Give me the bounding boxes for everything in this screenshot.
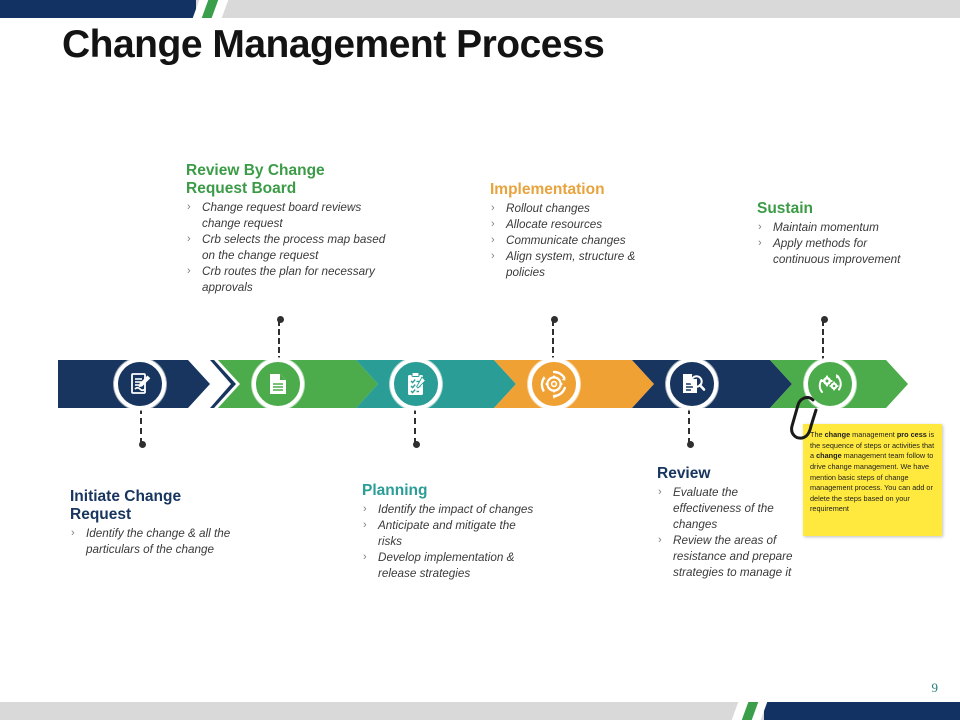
bullet-text: Change request board reviews change requ… [202,201,361,230]
sticky-note[interactable]: The change management pro cess is the se… [803,424,942,536]
chevron-bullet-icon: › [658,485,662,500]
chevron-bullet-icon: › [491,249,495,264]
list-item: ›Allocate resources [490,217,665,233]
chevron-bullet-icon: › [491,201,495,216]
document-magnifier-icon [678,370,706,398]
chevron-bullet-icon: › [363,502,367,517]
connector-line-initiate [140,408,142,444]
bullet-text: Allocate resources [506,218,602,231]
connector-dot [821,316,828,323]
chevron-bullet-icon: › [187,264,191,279]
chevron-bullet-icon: › [187,200,191,215]
connector-dot [413,441,420,448]
chevron-bullet-icon: › [758,236,762,251]
chevron-bullet-icon: › [363,550,367,565]
bullet-text: Crb selects the process map based on the… [202,233,385,262]
list-item: ›Evaluate the effectiveness of the chang… [657,485,807,533]
bullet-text: Communicate changes [506,234,626,247]
step-bullet-list: ›Change request board reviews change req… [186,200,386,296]
bullet-text: Crb routes the plan for necessary approv… [202,265,375,294]
connector-line-review [688,408,690,444]
bullet-text: Anticipate and mitigate the risks [378,519,516,548]
connector-dot [551,316,558,323]
step-node-planning[interactable] [390,358,442,410]
step-block-sustain: Sustain ›Maintain momentum ›Apply method… [757,200,922,268]
connector-line-planning [414,408,416,444]
bottom-navy-bar [764,702,960,720]
bullet-text: Align system, structure & policies [506,250,635,279]
step-block-review: Review ›Evaluate the effectiveness of th… [657,465,807,581]
paperclip-icon [786,396,826,454]
connector-line-implementation [552,320,554,362]
chevron-bullet-icon: › [363,518,367,533]
step-node-review[interactable] [666,358,718,410]
bullet-text: Maintain momentum [773,221,879,234]
note-seg-1: change [825,430,851,439]
step-heading: Planning [362,482,537,500]
step-heading: Review [657,465,807,483]
gears-refresh-icon [816,370,844,398]
step-heading: Review By Change Request Board [186,162,386,198]
step-node-initiate-change-request[interactable] [114,358,166,410]
list-item: ›Crb selects the process map based on th… [186,232,386,264]
chevron-bullet-icon: › [71,526,75,541]
step-bullet-list: ›Evaluate the effectiveness of the chang… [657,485,807,581]
list-item: ›Identify the change & all the particula… [70,526,245,558]
step-heading: Initiate Change Request [70,488,245,524]
bullet-text: Identify the change & all the particular… [86,527,230,556]
step-bullet-list: ›Identify the impact of changes ›Anticip… [362,502,537,582]
list-item: ›Maintain momentum [757,220,922,236]
step-block-planning: Planning ›Identify the impact of changes… [362,482,537,582]
list-item: ›Rollout changes [490,201,665,217]
connector-line-review-board [278,320,280,362]
step-block-initiate-change-request: Initiate Change Request ›Identify the ch… [70,488,245,558]
step-node-implementation[interactable] [528,358,580,410]
note-seg-2: management [850,430,897,439]
list-item: ›Review the areas of resistance and prep… [657,533,807,581]
connector-line-sustain [822,320,824,362]
bullet-text: Review the areas of resistance and prepa… [673,534,793,579]
list-item: ›Apply methods for continuous improvemen… [757,236,922,268]
top-navy-bar [0,0,196,18]
bullet-text: Apply methods for continuous improvement [773,237,900,266]
step-block-review-by-change-request-board: Review By Change Request Board ›Change r… [186,162,386,296]
chevron-bullet-icon: › [491,217,495,232]
step-bullet-list: ›Maintain momentum ›Apply methods for co… [757,220,922,268]
chevron-bullet-icon: › [758,220,762,235]
step-node-review-by-change-request-board[interactable] [252,358,304,410]
bullet-text: Develop implementation & release strateg… [378,551,514,580]
note-seg-6: management team follow to drive change m… [810,451,933,513]
step-heading: Sustain [757,200,922,218]
list-item: ›Identify the impact of changes [362,502,537,518]
bullet-text: Evaluate the effectiveness of the change… [673,486,774,531]
list-item: ›Communicate changes [490,233,665,249]
page-title: Change Management Process [62,23,604,67]
document-lines-icon [265,371,291,397]
chevron-bullet-icon: › [187,232,191,247]
connector-dot [277,316,284,323]
step-heading: Implementation [490,181,665,199]
chevron-bullet-icon: › [491,233,495,248]
list-item: ›Crb routes the plan for necessary appro… [186,264,386,296]
note-seg-3: pro cess [897,430,927,439]
page-number: 9 [932,680,939,696]
connector-dot [687,441,694,448]
list-item: ›Develop implementation & release strate… [362,550,537,582]
list-item: ›Change request board reviews change req… [186,200,386,232]
step-block-implementation: Implementation ›Rollout changes ›Allocat… [490,181,665,281]
gear-cycle-icon [539,369,569,399]
clipboard-checklist-icon [403,371,430,398]
process-chevron-band [58,360,908,408]
list-item: ›Align system, structure & policies [490,249,665,281]
step-bullet-list: ›Identify the change & all the particula… [70,526,245,558]
bullet-text: Rollout changes [506,202,590,215]
step-bullet-list: ›Rollout changes ›Allocate resources ›Co… [490,201,665,281]
chevron-bullet-icon: › [658,533,662,548]
document-pen-icon [126,370,154,398]
bullet-text: Identify the impact of changes [378,503,533,516]
list-item: ›Anticipate and mitigate the risks [362,518,537,550]
connector-dot [139,441,146,448]
